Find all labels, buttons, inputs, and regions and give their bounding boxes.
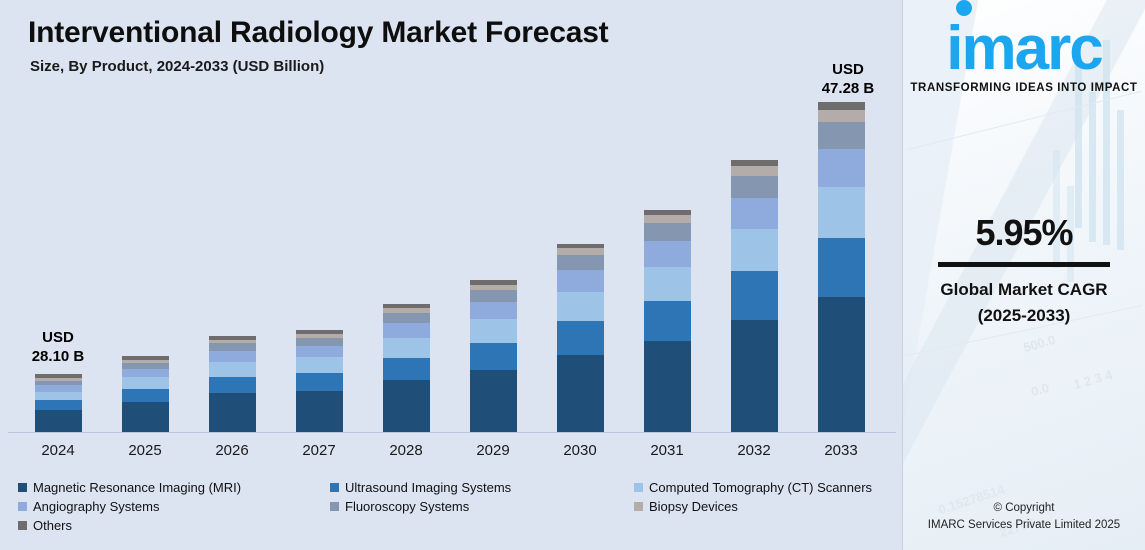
bar-column-2031[interactable] [644,210,691,432]
bar-segment[interactable] [122,402,169,432]
x-axis-label-2024: 2024 [18,442,98,459]
legend-swatch-icon [634,502,643,511]
bar-segment[interactable] [296,357,343,373]
bar-segment[interactable] [470,319,517,343]
bar-column-2025[interactable] [122,356,169,432]
legend-item[interactable]: Magnetic Resonance Imaging (MRI) [18,480,241,495]
bar-segment[interactable] [383,323,430,338]
bar-column-2026[interactable] [209,336,256,432]
legend-label: Biopsy Devices [649,499,738,514]
legend-label: Ultrasound Imaging Systems [345,480,511,495]
copyright-notice: © Copyright IMARC Services Private Limit… [903,500,1145,534]
cagr-label: Global Market CAGR [903,277,1145,303]
legend-swatch-icon [18,502,27,511]
legend-item[interactable]: Fluoroscopy Systems [330,499,469,514]
bar-segment[interactable] [35,400,82,409]
bar-segment[interactable] [644,301,691,341]
bar-segment[interactable] [470,290,517,302]
legend-label: Others [33,518,72,533]
bar-segment[interactable] [383,313,430,323]
bar-segment[interactable] [644,223,691,241]
bar-segment[interactable] [731,320,778,432]
legend-swatch-icon [18,483,27,492]
bar-segment[interactable] [122,377,169,389]
bar-segment[interactable] [209,393,256,432]
x-axis-label-2029: 2029 [453,442,533,459]
legend-item[interactable]: Ultrasound Imaging Systems [330,480,511,495]
bar-segment[interactable] [731,229,778,271]
bar-segment[interactable] [470,370,517,432]
bar-column-2024[interactable] [35,374,82,432]
x-axis-label-2025: 2025 [105,442,185,459]
bar-segment[interactable] [557,292,604,321]
bar-segment[interactable] [818,149,865,187]
logo-tagline: TRANSFORMING IDEAS INTO IMPACT [903,82,1145,94]
page-subtitle: Size, By Product, 2024-2033 (USD Billion… [30,58,324,75]
bar-segment[interactable] [209,343,256,351]
copyright-line-2: IMARC Services Private Limited 2025 [903,517,1145,534]
copyright-line-1: © Copyright [903,500,1145,517]
bar-segment[interactable] [122,369,169,378]
bar-segment[interactable] [35,392,82,400]
bar-segment[interactable] [296,338,343,346]
legend-swatch-icon [18,521,27,530]
bar-segment[interactable] [731,271,778,320]
legend-swatch-icon [330,502,339,511]
plot-area [0,96,903,432]
bar-segment[interactable] [818,122,865,149]
bar-segment[interactable] [644,341,691,432]
x-axis-line [8,432,896,433]
logo-text: imarc [946,14,1101,83]
bar-segment[interactable] [557,321,604,355]
legend-label: Fluoroscopy Systems [345,499,469,514]
logo-wordmark: imarc [946,18,1101,80]
bar-segment[interactable] [383,338,430,358]
chart-panel: Interventional Radiology Market Forecast… [0,0,903,550]
bar-segment[interactable] [296,391,343,432]
x-axis-label-2032: 2032 [714,442,794,459]
x-axis-label-2031: 2031 [627,442,707,459]
bar-segment[interactable] [731,166,778,176]
bar-column-2030[interactable] [557,244,604,432]
legend-item[interactable]: Biopsy Devices [634,499,738,514]
bar-segment[interactable] [557,355,604,432]
legend-swatch-icon [330,483,339,492]
bar-segment[interactable] [209,351,256,362]
bar-column-2027[interactable] [296,330,343,432]
bar-segment[interactable] [818,110,865,122]
legend-label: Computed Tomography (CT) Scanners [649,480,872,495]
x-axis-label-2033: 2033 [801,442,881,459]
chart-infographic: Interventional Radiology Market Forecast… [0,0,1145,550]
legend-row: Magnetic Resonance Imaging (MRI)Ultrasou… [18,480,898,499]
cagr-block: 5.95% Global Market CAGR (2025-2033) [903,212,1145,329]
bar-segment[interactable] [122,389,169,402]
bar-segment[interactable] [644,267,691,301]
bar-segment[interactable] [209,377,256,394]
bar-segment[interactable] [470,302,517,319]
bar-segment[interactable] [818,238,865,297]
bar-segment[interactable] [383,380,430,432]
bar-segment[interactable] [731,198,778,229]
bar-segment[interactable] [557,248,604,255]
bar-segment[interactable] [209,362,256,377]
bar-segment[interactable] [818,187,865,238]
bar-segment[interactable] [470,343,517,370]
x-axis-labels: 2024202520262027202820292030203120322033 [0,440,903,466]
page-title: Interventional Radiology Market Forecast [28,16,608,50]
bar-segment[interactable] [296,373,343,391]
cagr-period: (2025-2033) [903,303,1145,329]
bar-column-2032[interactable] [731,160,778,432]
x-axis-label-2028: 2028 [366,442,446,459]
x-axis-label-2027: 2027 [279,442,359,459]
legend-label: Angiography Systems [33,499,159,514]
x-axis-label-2026: 2026 [192,442,272,459]
bar-column-2028[interactable] [383,304,430,432]
brand-panel: 500.0 0.0 1 2 3 4 0.15278514 22768 imarc… [903,0,1145,550]
legend-row: Angiography SystemsFluoroscopy SystemsBi… [18,499,898,518]
x-axis-label-2030: 2030 [540,442,620,459]
legend-swatch-icon [634,483,643,492]
cagr-divider [938,262,1110,267]
bar-segment[interactable] [557,255,604,270]
bar-segment[interactable] [383,358,430,381]
bar-segment[interactable] [557,270,604,292]
legend-item[interactable]: Others [18,518,72,533]
callout-last-currency: USD [793,60,903,79]
bar-segment[interactable] [644,241,691,267]
bar-column-2029[interactable] [470,280,517,432]
legend-label: Magnetic Resonance Imaging (MRI) [33,480,241,495]
chart-legend: Magnetic Resonance Imaging (MRI)Ultrasou… [18,480,898,537]
imarc-logo: imarc TRANSFORMING IDEAS INTO IMPACT [903,18,1145,94]
bar-segment[interactable] [818,102,865,110]
bar-column-2033[interactable] [818,102,865,432]
bar-segment[interactable] [35,410,82,432]
legend-row: Others [18,518,898,537]
bar-segment[interactable] [644,215,691,223]
cagr-value: 5.95% [903,212,1145,254]
bar-segment[interactable] [818,297,865,432]
callout-last-year: USD 47.28 B [793,60,903,98]
bar-segment[interactable] [731,176,778,198]
bar-segment[interactable] [296,346,343,358]
legend-item[interactable]: Angiography Systems [18,499,159,514]
legend-item[interactable]: Computed Tomography (CT) Scanners [634,480,872,495]
